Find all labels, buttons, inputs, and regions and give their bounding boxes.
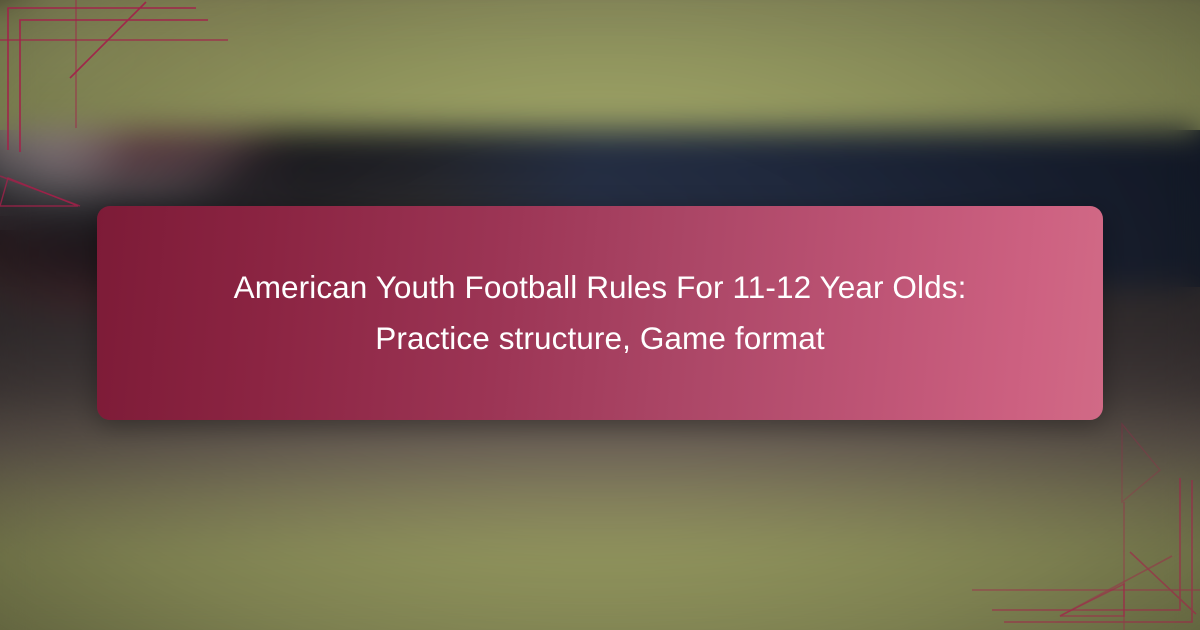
page-title: American Youth Football Rules For 11-12 …: [205, 262, 995, 364]
og-image-canvas: American Youth Football Rules For 11-12 …: [0, 0, 1200, 630]
article-title-card: American Youth Football Rules For 11-12 …: [97, 206, 1103, 420]
